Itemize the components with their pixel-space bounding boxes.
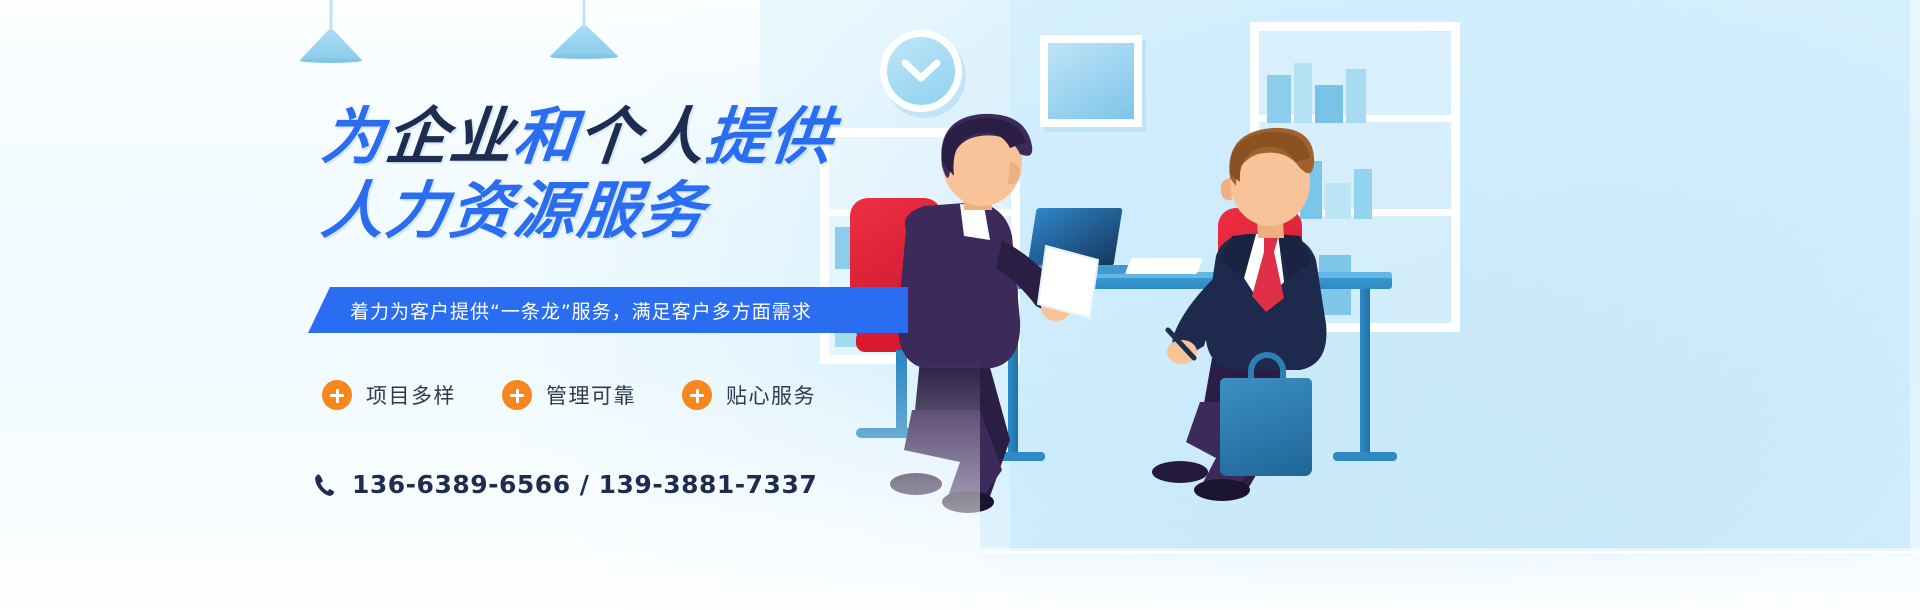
feature-item-2[interactable]: 管理可靠 bbox=[502, 380, 636, 410]
ear bbox=[1221, 178, 1232, 200]
hr-service-banner: 为企业和个人提供 人力资源服务 着力为客户提供“一条龙”服务，满足客户多方面需求… bbox=[0, 0, 1920, 610]
copy-block: 为企业和个人提供 人力资源服务 着力为客户提供“一条龙”服务，满足客户多方面需求… bbox=[0, 0, 900, 610]
feature-item-3[interactable]: 贴心服务 bbox=[682, 380, 816, 410]
contact-row[interactable]: 136-6389-6566 / 139-3881-7337 bbox=[314, 470, 817, 499]
headline-seg: 人力资源服务 bbox=[318, 174, 710, 247]
feature-label: 管理可靠 bbox=[546, 380, 636, 410]
headline-seg: 为 bbox=[318, 100, 390, 173]
document-paper bbox=[1038, 246, 1098, 318]
phone-icon bbox=[314, 473, 336, 497]
headline-line-1: 为企业和个人提供 bbox=[319, 104, 886, 170]
shoe bbox=[1152, 461, 1208, 483]
headline-seg: 个人 bbox=[574, 100, 710, 173]
briefcase bbox=[1220, 378, 1312, 476]
headline-seg: 和 bbox=[510, 100, 582, 173]
headline-line-2: 人力资源服务 bbox=[319, 178, 886, 244]
headline-seg: 提供 bbox=[702, 100, 838, 173]
feature-label: 贴心服务 bbox=[726, 380, 816, 410]
feature-label: 项目多样 bbox=[366, 380, 456, 410]
desk-paper bbox=[1125, 258, 1203, 274]
headline-seg: 企业 bbox=[382, 100, 518, 173]
headline: 为企业和个人提供 人力资源服务 bbox=[322, 104, 882, 244]
office-illustration bbox=[980, 0, 1920, 610]
plus-icon bbox=[502, 380, 532, 410]
subtitle-text: 着力为客户提供“一条龙”服务，满足客户多方面需求 bbox=[308, 297, 812, 324]
books-row bbox=[1267, 63, 1366, 123]
plus-icon bbox=[682, 380, 712, 410]
feature-item-1[interactable]: 项目多样 bbox=[322, 380, 456, 410]
phone-number: 136-6389-6566 / 139-3881-7337 bbox=[352, 470, 817, 499]
floor bbox=[980, 548, 1920, 610]
shoe bbox=[1194, 479, 1250, 501]
feature-list: 项目多样 管理可靠 贴心服务 bbox=[322, 380, 816, 410]
plus-icon bbox=[322, 380, 352, 410]
person-suit bbox=[898, 202, 1020, 368]
subtitle-ribbon: 着力为客户提供“一条龙”服务，满足客户多方面需求 bbox=[308, 287, 908, 333]
